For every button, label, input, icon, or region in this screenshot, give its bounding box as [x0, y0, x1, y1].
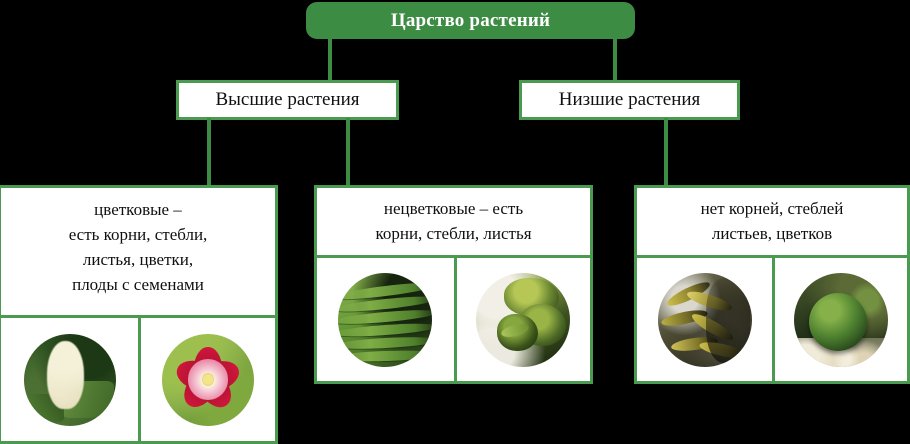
- frond-shape: [338, 336, 432, 352]
- flower-plume-shape: [47, 341, 84, 409]
- marimo-algae-photo: [794, 273, 888, 367]
- photo-cell[interactable]: [772, 258, 907, 381]
- caption-line: листьев, цветков: [643, 221, 901, 246]
- photo-cell[interactable]: [637, 258, 772, 381]
- connector-root-to-high: [328, 38, 332, 82]
- photo-strip: [317, 255, 590, 381]
- flower-core-shape: [202, 373, 215, 386]
- caption-line: листья, цветки,: [7, 247, 269, 272]
- caption-line: цветковые –: [7, 197, 269, 222]
- chestnut-flower-photo: [24, 334, 116, 426]
- node-higher-plants[interactable]: Высшие растения: [176, 80, 399, 120]
- caption-line: нецветковые – есть: [323, 196, 584, 221]
- caption-line: есть корни, стебли,: [7, 222, 269, 247]
- fern-photo: [338, 273, 432, 367]
- group-caption-lower: нет корней, стеблей листьев, цветков: [637, 188, 907, 255]
- group-caption-flowering: цветковые – есть корни, стебли, листья, …: [1, 188, 275, 306]
- caption-line: нет корней, стеблей: [643, 196, 901, 221]
- node-lower-plants-label: Низшие растения: [559, 89, 701, 111]
- caption-line: корни, стебли, листья: [323, 221, 584, 246]
- connector-root-to-low: [613, 38, 617, 82]
- shadow-shape: [706, 278, 749, 363]
- photo-cell[interactable]: [317, 258, 454, 381]
- moss-photo: [476, 273, 570, 367]
- diagram-canvas: Царство растений Высшие растения Низшие …: [0, 0, 910, 442]
- root-node-label: Царство растений: [391, 10, 550, 32]
- node-lower-plants[interactable]: Низшие растения: [519, 80, 740, 120]
- group-card-nonflowering-plants[interactable]: нецветковые – есть корни, стебли, листья: [314, 185, 593, 384]
- photo-cell[interactable]: [138, 318, 275, 441]
- caption-line: плоды с семенами: [7, 272, 269, 297]
- frond-shape: [338, 350, 432, 364]
- group-card-lower-plants[interactable]: нет корней, стеблей листьев, цветков: [634, 185, 910, 384]
- node-higher-plants-label: Высшие растения: [215, 89, 359, 111]
- root-node-kingdom-plants[interactable]: Царство растений: [306, 2, 635, 39]
- group-caption-nonflowering: нецветковые – есть корни, стебли, листья: [317, 188, 590, 255]
- connector-low-to-lower: [664, 118, 668, 188]
- photo-strip: [1, 315, 275, 441]
- group-card-flowering-plants[interactable]: цветковые – есть корни, стебли, листья, …: [0, 185, 278, 444]
- kelp-algae-photo: [658, 273, 752, 367]
- photo-cell[interactable]: [454, 258, 591, 381]
- connector-high-to-flowering: [207, 118, 211, 188]
- photo-cell[interactable]: [1, 318, 138, 441]
- photo-strip: [637, 255, 907, 381]
- connector-high-to-nonflowering: [346, 118, 350, 188]
- columbine-flower-photo: [162, 334, 254, 426]
